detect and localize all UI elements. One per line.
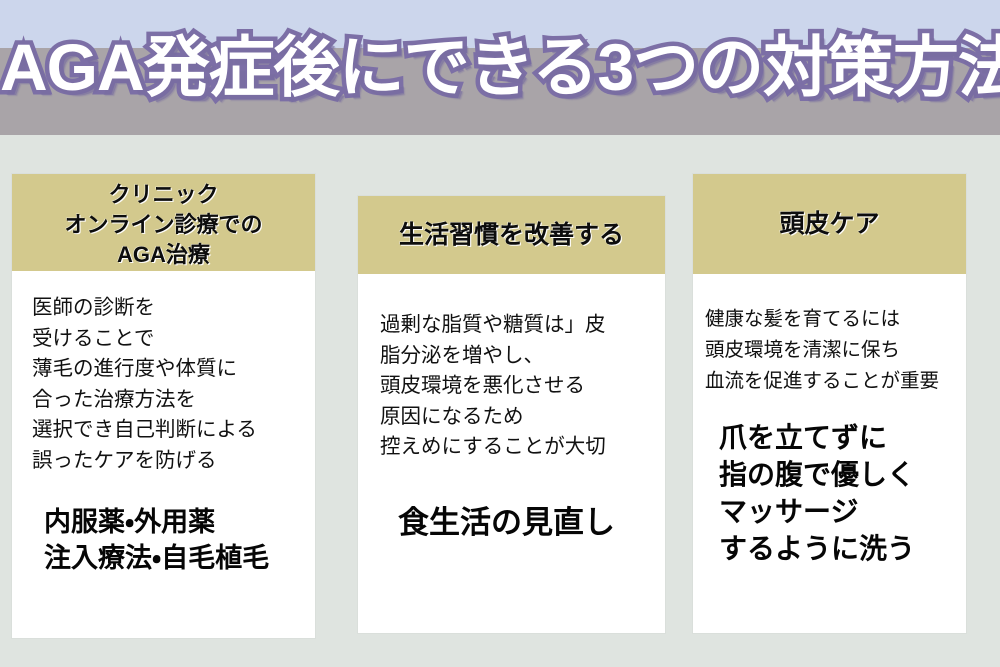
card-clinic-header-line-2: オンライン診療での (64, 210, 262, 240)
card-clinic-body: 医師の診断を 受けることで 薄毛の進行度や体質に 合った治療方法を 選択でき自己… (12, 271, 315, 576)
card-clinic-header-line-1: クリニック (108, 180, 218, 210)
card-clinic-emphasis-wrap: 内服薬・外用薬 注入療法・自毛植毛 (32, 504, 315, 576)
card-lifestyle: 生活習慣を改善する 過剰な脂質や糖質は」皮 脂分泌を増やし、 頭皮環境を悪化させ… (358, 196, 665, 633)
card-lifestyle-body-line-2: 脂分泌を増やし、 (380, 341, 665, 372)
card-lifestyle-body-line-3: 頭皮環境を悪化させる (380, 371, 665, 402)
card-lifestyle-body: 過剰な脂質や糖質は」皮 脂分泌を増やし、 頭皮環境を悪化させる 原因になるため … (358, 274, 665, 541)
card-scalp-care-emphasis-line-3: マッサージ (719, 493, 966, 530)
card-clinic-emphasis-line-2: 注入療法・自毛植毛 (44, 540, 315, 576)
card-clinic-emphasis: 内服薬・外用薬 注入療法・自毛植毛 (44, 504, 315, 576)
card-scalp-care-emphasis: 爪を立てずに 指の腹で優しく マッサージ するように洗う (719, 419, 966, 567)
slide-root: AGA発症後にできる3つの対策方法 クリニック オンライン診療での AGA治療 … (0, 0, 1000, 667)
card-clinic: クリニック オンライン診療での AGA治療 医師の診断を 受けることで 薄毛の進… (12, 174, 315, 638)
card-lifestyle-emphasis: 食生活の見直し (398, 505, 665, 541)
card-scalp-care-emphasis-line-2: 指の腹で優しく (719, 456, 966, 493)
card-lifestyle-header-line-1: 生活習慣を改善する (399, 220, 624, 250)
card-clinic-body-line-2: 受けることで (32, 324, 315, 355)
card-clinic-body-line-5: 選択でき自己判断による (32, 415, 315, 446)
card-scalp-care-body-line-1: 健康な髪を育てるには (705, 304, 966, 335)
card-scalp-care-paragraph: 健康な髪を育てるには 頭皮環境を清潔に保ち 血流を促進することが重要 (705, 304, 966, 397)
card-scalp-care-header-line-1: 頭皮ケア (779, 209, 879, 239)
card-clinic-header-line-3: AGA治療 (117, 240, 210, 270)
card-clinic-body-line-3: 薄毛の進行度や体質に (32, 354, 315, 385)
card-clinic-emphasis-line-1: 内服薬・外用薬 (44, 504, 315, 540)
card-scalp-care-body-line-2: 頭皮環境を清潔に保ち (705, 335, 966, 366)
card-clinic-paragraph: 医師の診断を 受けることで 薄毛の進行度や体質に 合った治療方法を 選択でき自己… (32, 293, 315, 476)
card-lifestyle-body-line-5: 控えめにすることが大切 (380, 432, 665, 463)
card-clinic-body-line-6: 誤ったケアを防げる (32, 446, 315, 477)
card-scalp-care-emphasis-line-1: 爪を立てずに (719, 419, 966, 456)
card-scalp-care-body: 健康な髪を育てるには 頭皮環境を清潔に保ち 血流を促進することが重要 爪を立てず… (693, 274, 966, 567)
card-clinic-header: クリニック オンライン診療での AGA治療 (12, 174, 315, 271)
card-grid: クリニック オンライン診療での AGA治療 医師の診断を 受けることで 薄毛の進… (0, 0, 1000, 667)
card-lifestyle-emphasis-line-1: 食生活の見直し (398, 505, 665, 541)
card-lifestyle-emphasis-wrap: 食生活の見直し (380, 505, 665, 541)
card-lifestyle-body-line-1: 過剰な脂質や糖質は」皮 (380, 310, 665, 341)
card-scalp-care-emphasis-wrap: 爪を立てずに 指の腹で優しく マッサージ するように洗う (705, 419, 966, 567)
card-lifestyle-paragraph: 過剰な脂質や糖質は」皮 脂分泌を増やし、 頭皮環境を悪化させる 原因になるため … (380, 310, 665, 463)
card-lifestyle-body-line-4: 原因になるため (380, 402, 665, 433)
card-scalp-care-header: 頭皮ケア (693, 174, 966, 274)
card-scalp-care-emphasis-line-4: するように洗う (719, 530, 966, 567)
card-scalp-care: 頭皮ケア 健康な髪を育てるには 頭皮環境を清潔に保ち 血流を促進することが重要 … (693, 174, 966, 633)
card-clinic-body-line-1: 医師の診断を (32, 293, 315, 324)
card-scalp-care-body-line-3: 血流を促進することが重要 (705, 366, 966, 397)
card-lifestyle-header: 生活習慣を改善する (358, 196, 665, 274)
card-clinic-body-line-4: 合った治療方法を (32, 385, 315, 416)
